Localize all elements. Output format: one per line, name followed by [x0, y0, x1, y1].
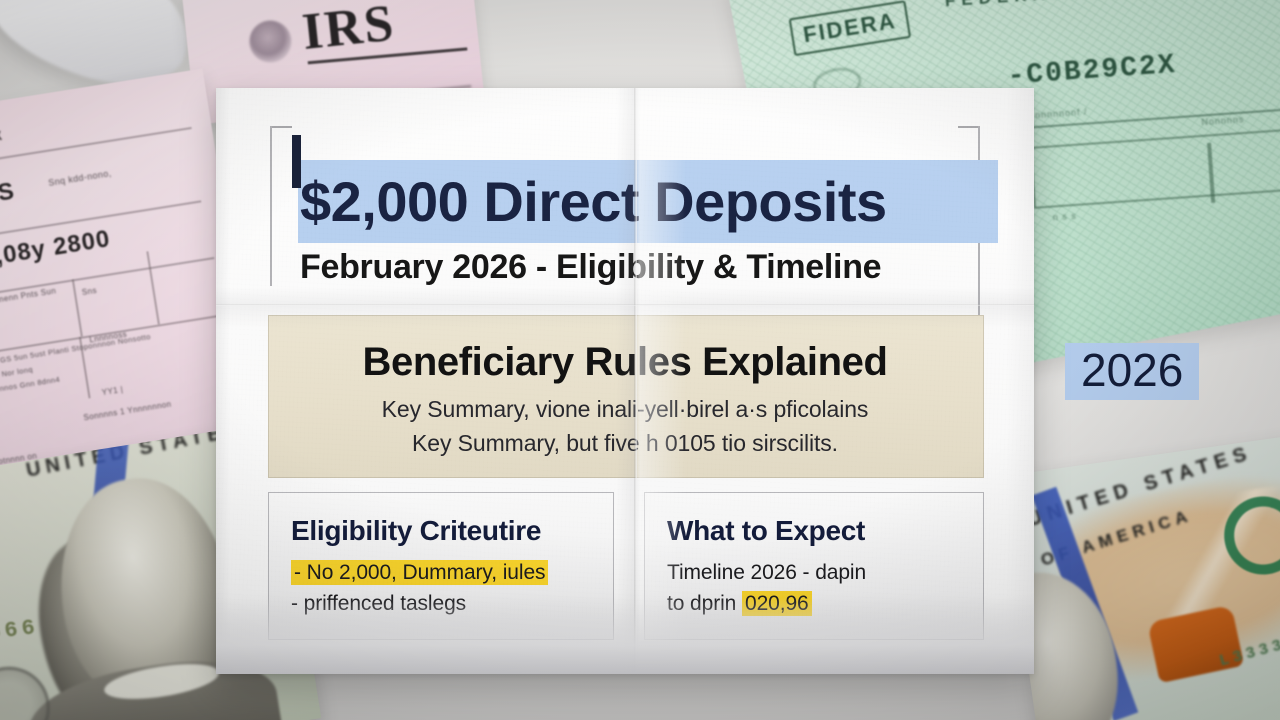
page-title: $2,000 Direct Deposits [300, 160, 1060, 243]
expect-box-line-1: Timeline 2026 - dapin [667, 561, 866, 585]
pink-form-small-text: YY1 | [101, 385, 124, 397]
pink-form-small-text: Sonnnns 1 Ynnnnnnon [83, 400, 172, 423]
eligibility-box-title: Eligibility Criteutire [291, 515, 541, 547]
expect-box-line-2: to dprin 020,96 [667, 592, 812, 616]
yellow-highlight: 020,96 [742, 591, 812, 616]
hundred-dollar-bill-right: UNITED STATES OF AMERICA L33333 10 [1001, 430, 1280, 720]
bill-serial-number: C03566 [0, 615, 40, 652]
left-rule-line [270, 126, 272, 286]
section-body-line-2: Key Summary, but five h 0105 tio sirscil… [216, 430, 1034, 457]
pink-form-small-text: Sns [81, 286, 97, 297]
irs-logo-text: IRS [300, 0, 398, 62]
year-highlight-chip: 2026 [1065, 343, 1199, 400]
pink-form-header-code: 1008 N° 1681 CX [0, 128, 4, 159]
expect-box-title: What to Expect [667, 515, 865, 547]
yellow-highlight: - No 2,000, Dummary, iules [291, 560, 548, 585]
bill-seal-icon [0, 661, 56, 720]
section-heading: Beneficiary Rules Explained [216, 340, 1034, 385]
card-content: $2,000 Direct Deposits February 2026 - E… [216, 88, 1034, 674]
scene: IRS 1008 N° 1681 CX NTIRENSS Snq kdd-non… [0, 0, 1280, 720]
corner-bracket-top-right-icon [958, 126, 980, 148]
pink-form-right-label: Snq kdd-nono, [48, 168, 113, 188]
infographic-card: $2,000 Direct Deposits February 2026 - E… [216, 88, 1034, 674]
expect-box-line-2-prefix: to dprin [667, 592, 742, 615]
pink-form-amount: Key 2'39,08y 2800 [0, 225, 112, 287]
pink-form-title: NTIRENSS [0, 178, 17, 226]
section-body-line-1: Key Summary, vione inali-yell·birel a·s … [216, 396, 1034, 423]
eligibility-box-line-1: - No 2,000, Dummary, iules [291, 561, 548, 585]
eligibility-box-line-2: - priffenced taslegs [291, 592, 466, 616]
pink-form-small-text: Nonn Bonn nnos Gnn 8dnn4 [0, 375, 61, 400]
corner-bracket-top-left-icon [270, 126, 292, 148]
page-subtitle: February 2026 - Eligibility & Timeline [300, 248, 1060, 287]
irs-seal-icon [247, 18, 293, 64]
expect-box: What to Expect Timeline 2026 - dapin to … [644, 492, 984, 640]
eligibility-box: Eligibility Criteutire - No 2,000, Dumma… [268, 492, 614, 640]
